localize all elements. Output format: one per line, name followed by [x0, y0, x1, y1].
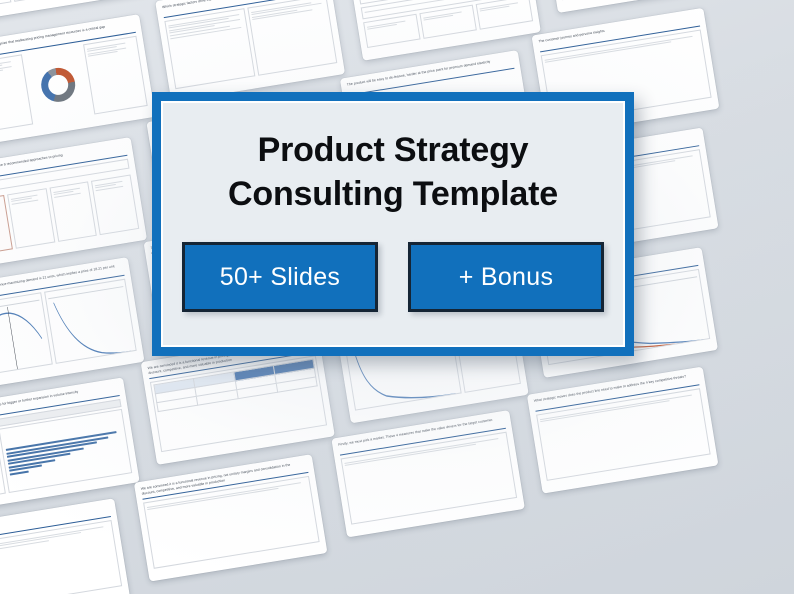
revenue-curve-chart: [0, 302, 50, 378]
hero-card: Product Strategy Consulting Template 50+…: [152, 92, 634, 356]
slide-thumbnail: Analyze the impact that revenue-maximizi…: [0, 257, 145, 390]
slide-panel: [83, 36, 147, 115]
slide-panel: [91, 174, 139, 235]
slide-panel: [0, 0, 11, 6]
bonus-badge[interactable]: + Bonus: [408, 242, 604, 312]
slide-thumbnail: Most companies recognize that reallocati…: [0, 14, 156, 146]
slide-panel: [44, 279, 137, 364]
slide-content: [0, 279, 137, 378]
slide-panel: [419, 5, 476, 39]
slide-thumbnail: Which strategic factors drive the compan…: [155, 0, 345, 102]
slide-panel: [164, 8, 254, 89]
page-title: Product Strategy Consulting Template: [228, 129, 558, 216]
slide-thumbnail: Firstly, we must pick a market. These 4 …: [331, 410, 525, 537]
slide-thumbnail: Left companies with opportunities for bi…: [0, 377, 140, 511]
slide-content: [0, 0, 150, 6]
badge-row: 50+ Slides + Bonus: [163, 242, 623, 312]
donut-chart: [39, 65, 78, 104]
slide-thumbnail: Competitor standard pricing review: [0, 498, 130, 594]
horizontal-bar-chart: [2, 412, 130, 493]
hero-card-inner: Product Strategy Consulting Template 50+…: [161, 101, 625, 347]
slide-panel: [247, 0, 337, 76]
slide-content: [0, 159, 139, 256]
slides-count-badge[interactable]: 50+ Slides: [182, 242, 378, 312]
slide-content: [356, 0, 533, 48]
screenshot-canvas: The product will usually not be widely u…: [0, 0, 794, 594]
slide-panel: [7, 188, 55, 249]
slide-panel: [0, 292, 52, 377]
slide-thumbnail: We will consider each of the 9 recommend…: [0, 137, 147, 268]
slide-panel: [49, 181, 97, 242]
slide-panel: [476, 0, 533, 30]
donut-chart-panel: [25, 45, 92, 124]
slide-panel: [363, 14, 420, 48]
slide-thumbnail: We are convinced it is a functional reve…: [134, 454, 328, 581]
elasticity-curve-chart: [48, 288, 134, 364]
slide-thumbnail: What strategic moves does the product li…: [527, 366, 719, 493]
